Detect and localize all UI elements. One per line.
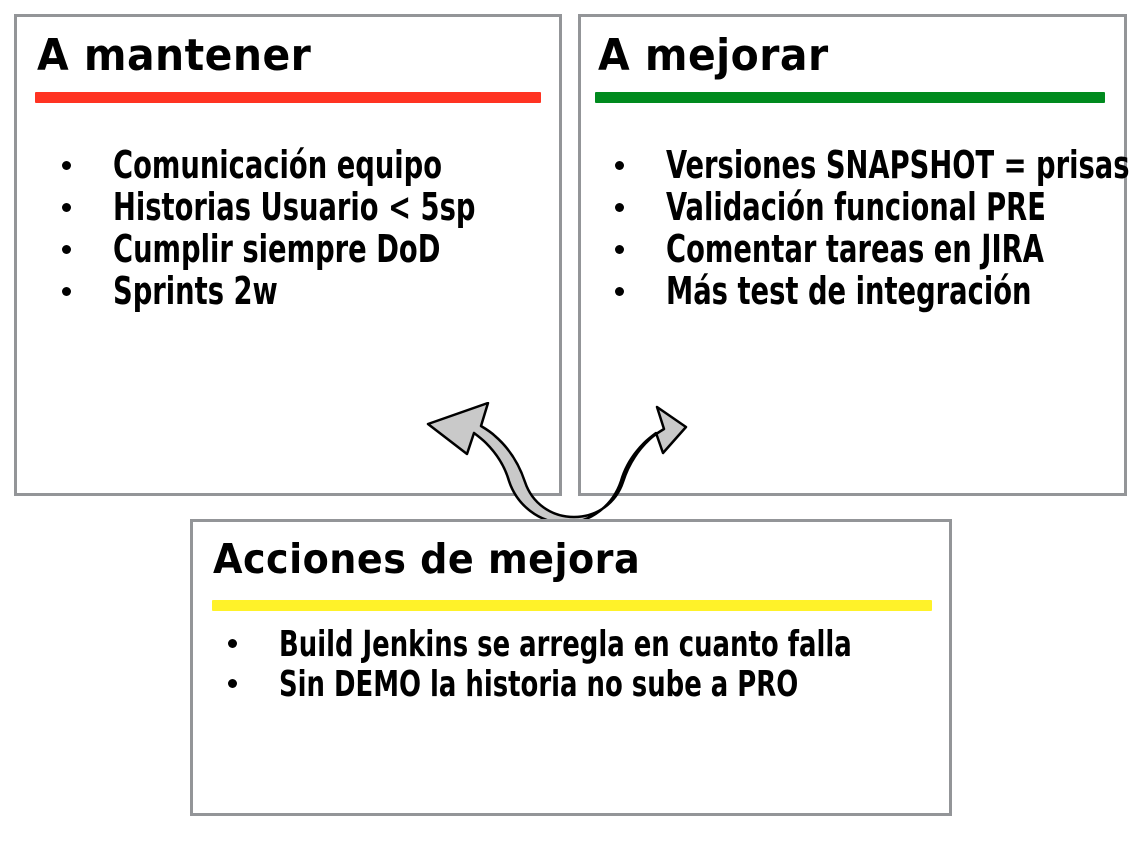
bullet-dot-icon — [615, 203, 624, 212]
list-item-label: Sin DEMO la historia no sube a PRO — [279, 666, 798, 704]
panel-keep-rule — [35, 92, 541, 103]
list-item-label: Comunicación equipo — [113, 145, 442, 185]
bullet-dot-icon — [62, 287, 71, 296]
list-item-label: Comentar tareas en JIRA — [666, 229, 1044, 269]
bullet-dot-icon — [615, 287, 624, 296]
list-item-label: Más test de integración — [666, 271, 1031, 311]
panel-actions: Acciones de mejora Build Jenkins se arre… — [190, 519, 952, 816]
list-item: Más test de integración — [598, 271, 1142, 313]
list-item: Build Jenkins se arregla en cuanto falla — [228, 626, 995, 666]
list-item-label: Cumplir siempre DoD — [113, 229, 440, 269]
list-item-label: Versiones SNAPSHOT = prisas — [666, 145, 1130, 185]
panel-improve-rule — [595, 92, 1105, 103]
panel-actions-title: Acciones de mejora — [213, 534, 640, 584]
list-item: Validación funcional PRE — [598, 187, 1142, 229]
retrospective-board: A mantener Comunicación equipo Historias… — [0, 0, 1142, 842]
list-item: Sin DEMO la historia no sube a PRO — [228, 666, 995, 706]
list-item: Comunicación equipo — [45, 145, 566, 187]
panel-keep-title: A mantener — [37, 31, 311, 81]
bullet-dot-icon — [62, 203, 71, 212]
list-item-label: Historias Usuario < 5sp — [113, 187, 475, 227]
list-item: Comentar tareas en JIRA — [598, 229, 1142, 271]
list-item: Sprints 2w — [45, 271, 566, 313]
list-item-label: Sprints 2w — [113, 271, 278, 311]
panel-improve-list: Versiones SNAPSHOT = prisas Validación f… — [598, 145, 1142, 313]
list-item-label: Validación funcional PRE — [666, 187, 1046, 227]
panel-keep: A mantener Comunicación equipo Historias… — [14, 14, 562, 496]
bullet-dot-icon — [615, 245, 624, 254]
panel-keep-list: Comunicación equipo Historias Usuario < … — [45, 145, 566, 313]
list-item: Versiones SNAPSHOT = prisas — [598, 145, 1142, 187]
panel-improve: A mejorar Versiones SNAPSHOT = prisas Va… — [578, 14, 1127, 496]
list-item: Historias Usuario < 5sp — [45, 187, 566, 229]
panel-actions-rule — [212, 600, 932, 611]
bullet-dot-icon — [615, 161, 624, 170]
bullet-dot-icon — [62, 245, 71, 254]
panel-actions-list: Build Jenkins se arregla en cuanto falla… — [228, 626, 995, 706]
bullet-dot-icon — [62, 161, 71, 170]
bullet-dot-icon — [228, 679, 237, 688]
list-item-label: Build Jenkins se arregla en cuanto falla — [279, 626, 852, 664]
bullet-dot-icon — [228, 639, 237, 648]
panel-improve-title: A mejorar — [598, 31, 829, 81]
list-item: Cumplir siempre DoD — [45, 229, 566, 271]
